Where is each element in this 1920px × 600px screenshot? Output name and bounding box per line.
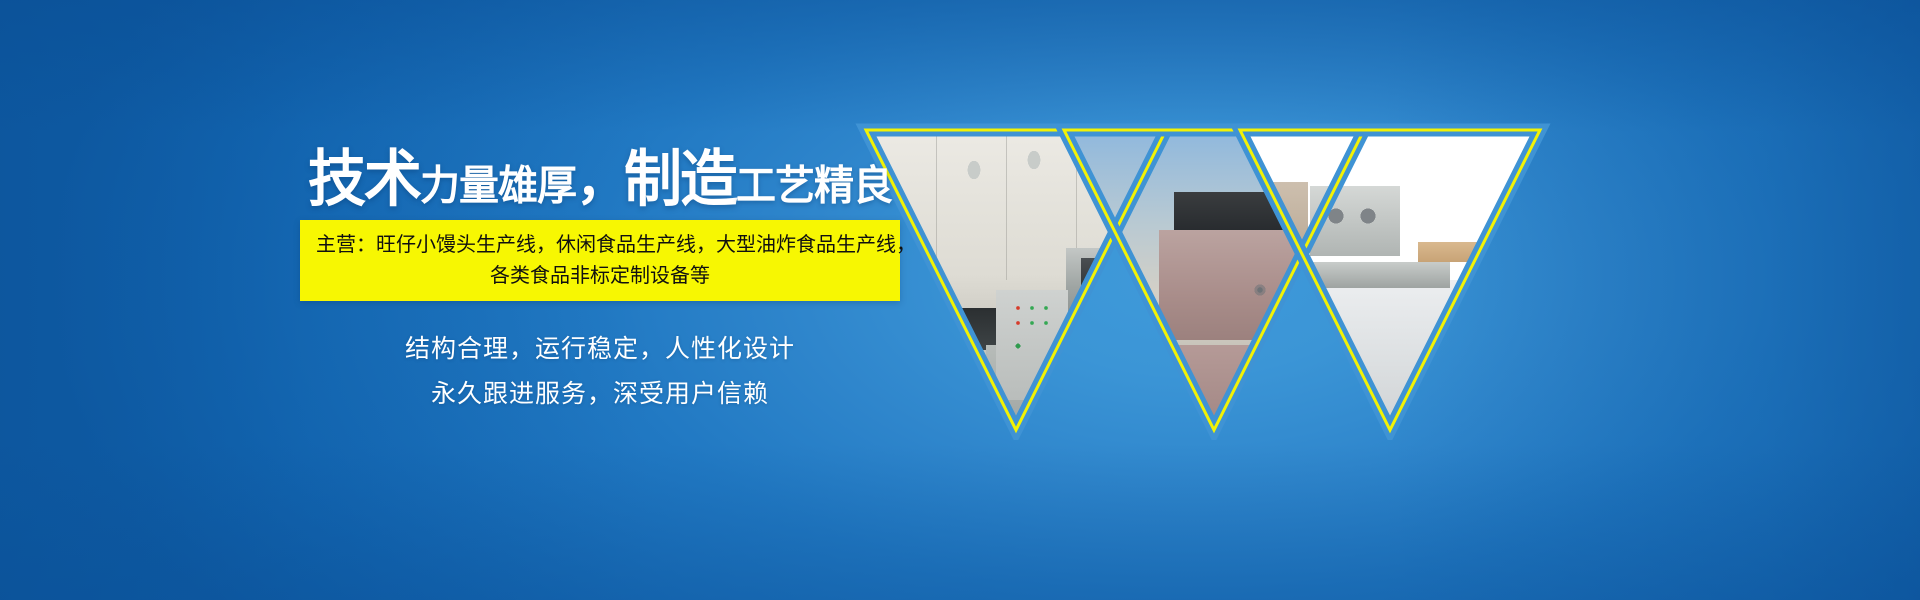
headline-part1-big: 技术 xyxy=(308,148,420,209)
banner-copy: 技术 力量雄厚 ， 制造 工艺精良 主营：旺仔小馒头生产线，休闲食品生产线，大型… xyxy=(300,150,900,416)
headline-comma: ， xyxy=(576,156,624,208)
headline-part2-small: 工艺精良 xyxy=(736,166,892,207)
tagline-line1: 结构合理，运行稳定，人性化设计 xyxy=(300,327,900,372)
tagline-line2: 永久跟进服务，深受用户信赖 xyxy=(300,372,900,417)
highlight-box-line2: 各类食品非标定制设备等 xyxy=(316,260,884,291)
triangle-frames xyxy=(840,100,1560,440)
highlight-box-line1: 主营：旺仔小馒头生产线，休闲食品生产线，大型油炸食品生产线， xyxy=(316,232,916,256)
tagline: 结构合理，运行稳定，人性化设计 永久跟进服务，深受用户信赖 xyxy=(300,327,900,416)
triangle-gallery xyxy=(840,100,1560,440)
triangle-outline-left-blue xyxy=(866,130,1166,430)
triangle-outline-left-yellow xyxy=(866,130,1166,430)
headline: 技术 力量雄厚 ， 制造 工艺精良 xyxy=(300,150,900,208)
headline-part2-big: 制造 xyxy=(624,148,736,209)
highlight-box: 主营：旺仔小馒头生产线，休闲食品生产线，大型油炸食品生产线， 各类食品非标定制设… xyxy=(300,220,900,301)
headline-part1-small: 力量雄厚 xyxy=(420,166,576,207)
promo-banner: 技术 力量雄厚 ， 制造 工艺精良 主营：旺仔小馒头生产线，休闲食品生产线，大型… xyxy=(0,0,1920,600)
